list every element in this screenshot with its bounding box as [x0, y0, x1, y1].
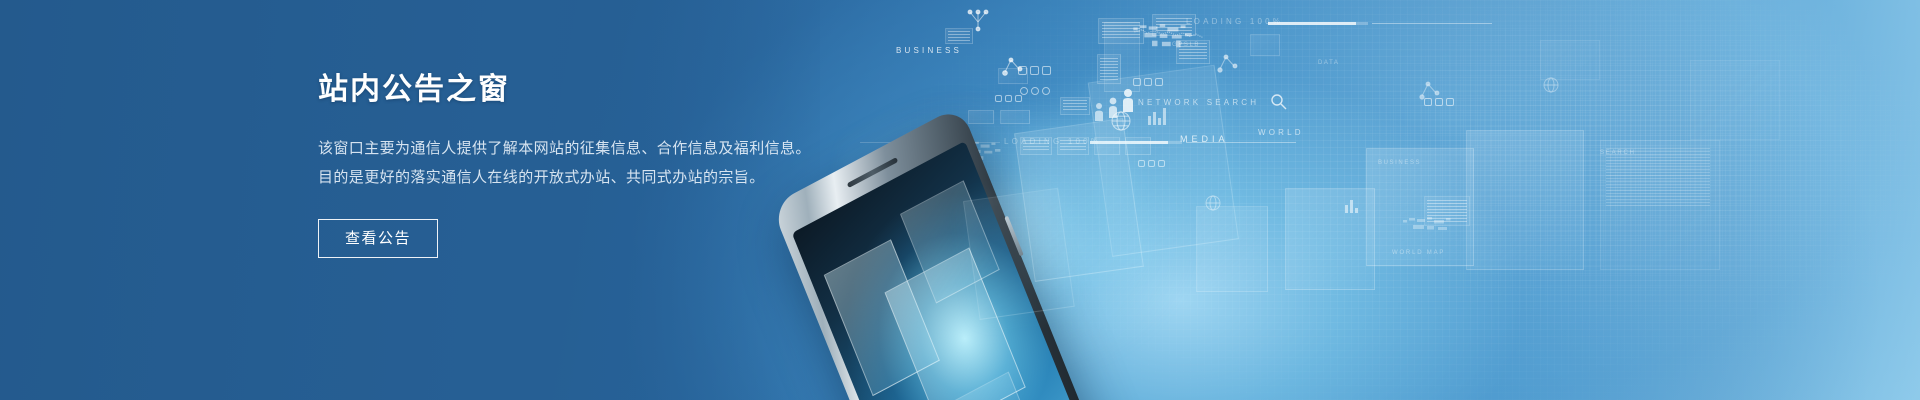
announcement-banner: BUSINESS LOADING 100% NETWORK SEARCH MED…	[0, 0, 1920, 400]
hud-label: LOADING 100%	[1186, 17, 1283, 26]
description-line-2: 目的是更好的落实通信人在线的开放式办站、共同式办站的宗旨。	[318, 163, 878, 192]
view-announcements-button[interactable]: 查看公告	[318, 219, 438, 258]
hud-label: BUSINESS	[1378, 160, 1421, 166]
hud-label: GPSLB	[1172, 42, 1200, 48]
banner-description: 该窗口主要为通信人提供了解本网站的征集信息、合作信息及福利信息。 目的是更好的落…	[318, 134, 878, 192]
page-title: 站内公告之窗	[318, 72, 878, 108]
hud-label: WORLD MAP	[1392, 250, 1445, 256]
hud-label: SEARCH	[1600, 150, 1636, 156]
banner-content: 站内公告之窗 该窗口主要为通信人提供了解本网站的征集信息、合作信息及福利信息。 …	[318, 72, 878, 258]
hud-label: BUSINESS	[896, 46, 962, 55]
description-line-1: 该窗口主要为通信人提供了解本网站的征集信息、合作信息及福利信息。	[318, 134, 878, 163]
